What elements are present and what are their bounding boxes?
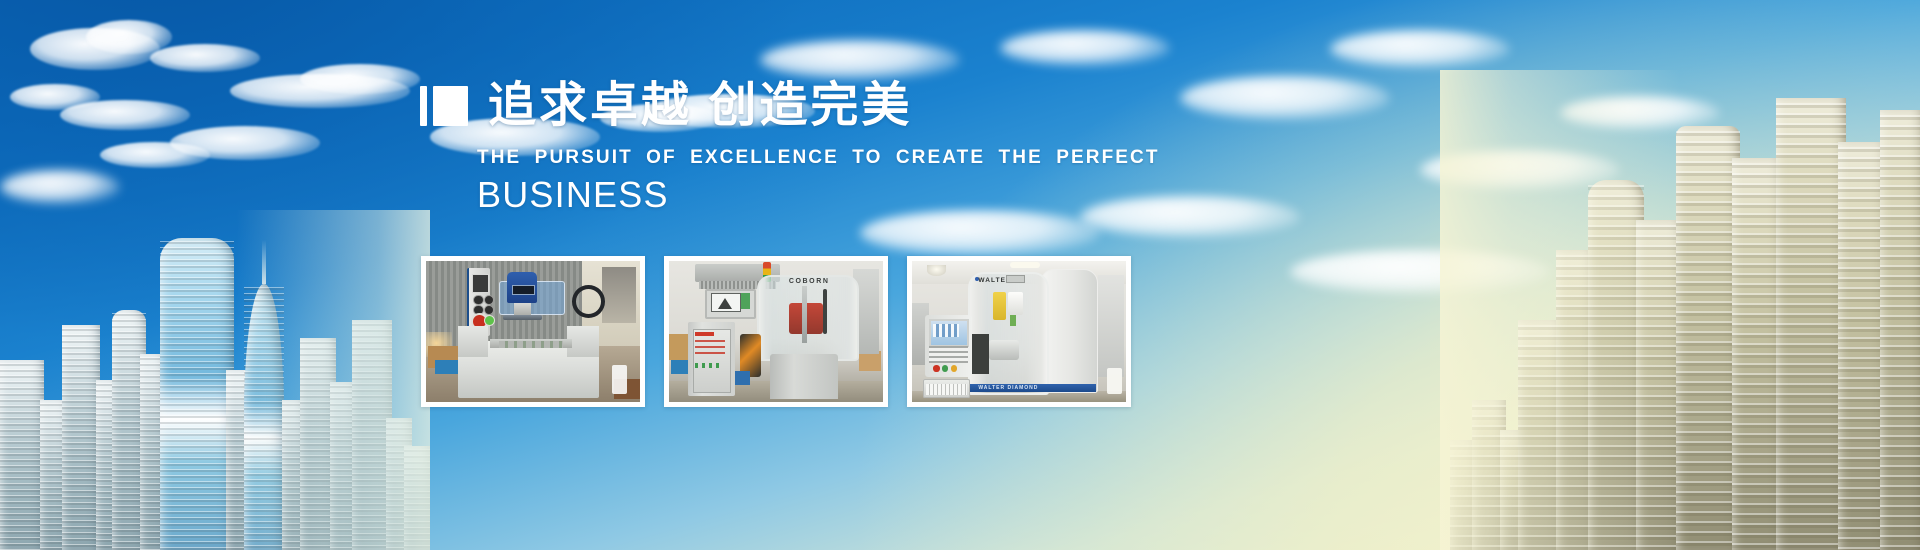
- product-photo-strip: COBORN: [421, 256, 1131, 407]
- subtitle-business-word: BUSINESS: [477, 174, 1180, 215]
- photo-surface-grinder[interactable]: [421, 256, 645, 407]
- headline-chinese: 追求卓越 创造完美: [488, 82, 912, 130]
- logo-block-icon: [433, 86, 468, 126]
- subtitle-english: THE PURSUIT OF EXCELLENCE TO CREATE THE …: [477, 147, 1180, 169]
- photo-walter-machine[interactable]: WALTER WALTER DIAMOND: [907, 256, 1131, 407]
- photo-coborn-brand-text: COBORN: [789, 278, 830, 285]
- hero-banner: 追求卓越 创造完美 THE PURSUIT OF EXCELLENCE TO C…: [0, 0, 1920, 550]
- photo-coborn-machine[interactable]: COBORN: [664, 256, 888, 407]
- photo-coborn-machine-image: COBORN: [669, 261, 883, 402]
- logo-bar-icon: [420, 86, 427, 126]
- photo-walter-machine-image: WALTER WALTER DIAMOND: [912, 261, 1126, 402]
- headline-row: 追求卓越 创造完美: [420, 82, 1180, 130]
- headline-block: 追求卓越 创造完美 THE PURSUIT OF EXCELLENCE TO C…: [420, 82, 1180, 215]
- photo-walter-stripe-text: WALTER DIAMOND: [978, 385, 1038, 391]
- photo-surface-grinder-image: [426, 261, 640, 402]
- company-logo-mark: [420, 86, 468, 126]
